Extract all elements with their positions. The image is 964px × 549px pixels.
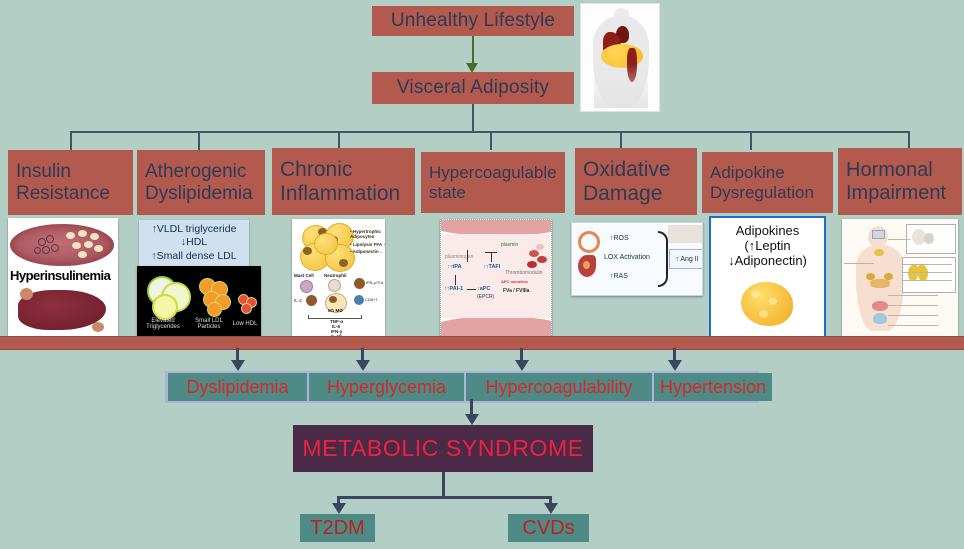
- coag-label-apc-mimetics: APC mimetics: [501, 279, 528, 284]
- oxidative-callout-label: ↑ Ang II: [675, 256, 698, 263]
- connector-syndrome-bar: [337, 496, 552, 499]
- inflammation-label-mast-cell: Mast Cell: [294, 273, 314, 278]
- category-adipokine-dysregulation: Adipokine Dysregulation: [702, 152, 833, 213]
- category-hypercoagulable-state-line2: state: [429, 183, 557, 202]
- thumbnail-insulin-resistance: Hyperinsulinemia: [8, 218, 118, 336]
- lipid-line-vldl: ↑VLDL triglyceride: [152, 223, 237, 236]
- drop-insulin-resistance: [70, 131, 72, 150]
- outcome-hyperglycemia-label: Hyperglycemia: [327, 377, 446, 398]
- arrow-head-hypertension: [668, 360, 682, 371]
- lipid-values-panel: ↑VLDL triglyceride ↓HDL ↑Small dense LDL: [139, 220, 249, 266]
- box-metabolic-syndrome-label: METABOLIC SYNDROME: [302, 435, 583, 462]
- connector-adiposity-trunk: [472, 104, 474, 132]
- thumbnail-obese-body: [580, 3, 660, 112]
- fat-blob-icon: [741, 282, 793, 326]
- oxidative-callout-ang2: ↑ Ang II: [669, 249, 703, 269]
- box-unhealthy-lifestyle-label: Unhealthy Lifestyle: [391, 11, 555, 32]
- category-adipokine-dysregulation-line1: Adipokine: [710, 163, 814, 182]
- category-oxidative-damage-line1: Oxidative: [583, 158, 671, 182]
- coag-label-thrombomodulin: Thrombomodulin: [505, 270, 543, 276]
- oxidative-line-ras: ↑RAS: [610, 273, 628, 280]
- arrow-head-dyslipidemia: [231, 360, 245, 371]
- coag-label-fva: FVa / FVIIIa: [503, 288, 529, 294]
- box-metabolic-syndrome: METABOLIC SYNDROME: [293, 425, 593, 472]
- category-chronic-inflammation: Chronic Inflammation: [272, 148, 415, 215]
- box-t2dm: T2DM: [300, 514, 375, 542]
- inflammation-label-ifn: IFN-γ/Th1: [366, 280, 384, 285]
- lipid-line-hdl: ↓HDL: [181, 236, 207, 249]
- lipid-label-hdl: Low HDL: [231, 321, 259, 327]
- category-atherogenic-dyslipidemia-line1: Atherogenic: [145, 161, 253, 182]
- brace-icon: [658, 231, 668, 287]
- outcome-dyslipidemia: Dyslipidemia: [168, 373, 307, 401]
- outcome-hypercoagulability-label: Hypercoagulability: [485, 377, 632, 398]
- connector-lifestyle-to-adiposity: [472, 36, 474, 66]
- inflammation-label-neutrophil: Neutrophil: [324, 273, 347, 278]
- diagram-canvas: Unhealthy Lifestyle Visceral Adiposity I…: [0, 0, 964, 549]
- category-chronic-inflammation-line1: Chronic: [280, 158, 400, 182]
- category-insulin-resistance-line1: Insulin: [16, 161, 110, 182]
- inflammation-label-il2: IL-2: [294, 298, 302, 303]
- connector-distribution-bar: [70, 131, 908, 133]
- adipokine-title: Adipokines: [736, 223, 800, 238]
- category-hypercoagulable-state: Hypercoagulable state: [421, 152, 565, 213]
- divider-band: [0, 336, 964, 350]
- arrow-head-hyperglycemia: [356, 360, 370, 371]
- oxidative-line-lox: LOX Activation: [604, 254, 650, 261]
- category-adipokine-dysregulation-line2: Dysregulation: [710, 183, 814, 202]
- thumbnail-oxidative-damage: ↑ROS LOX Activation ↑RAS ↑ Ang II: [571, 222, 703, 296]
- connector-syndrome-trunk: [442, 472, 445, 498]
- coag-label-tafi: ↑↑TAFI: [483, 264, 500, 270]
- box-t2dm-label: T2DM: [310, 517, 364, 540]
- category-insulin-resistance: Insulin Resistance: [8, 150, 133, 215]
- adipokine-adiponectin: ↓Adiponectin): [728, 253, 807, 268]
- outcome-hypertension: Hypertension: [654, 373, 772, 401]
- outcome-hyperglycemia: Hyperglycemia: [309, 373, 464, 401]
- category-hormonal-impairment: Hormonal Impairment: [838, 148, 962, 215]
- thumbnail-adipokine: Adipokines (↑Leptin ↓Adiponectin): [709, 216, 826, 340]
- drop-atherogenic-dyslipidemia: [198, 131, 200, 150]
- coag-label-apc: ↓aPC: [477, 286, 490, 292]
- adipokine-leptin: (↑Leptin: [744, 238, 790, 253]
- inflammation-note-adiponectin: • Adiponectin ↓: [350, 249, 382, 254]
- thumbnail-lipid-particles: Elevated Triglycerides Small LDL Particl…: [137, 266, 261, 336]
- lipid-label-ldl: Small LDL Particles: [191, 318, 227, 331]
- category-atherogenic-dyslipidemia: Atherogenic Dyslipidemia: [137, 150, 265, 215]
- coag-label-epcr: (EPCR): [477, 294, 494, 300]
- thumbnail-hormonal-impairment: [842, 219, 958, 336]
- oxidative-line-ros: ↑ROS: [610, 235, 629, 242]
- coag-label-pai1: ↑↑PAI-1: [444, 286, 463, 292]
- category-hormonal-impairment-line2: Impairment: [846, 182, 946, 204]
- thumbnail-dyslipidemia: ↑VLDL triglyceride ↓HDL ↑Small dense LDL: [139, 220, 249, 266]
- inflammation-note-hypertrophic: • Hypertrophic Adipocytes: [350, 229, 384, 239]
- hyperinsulinemia-caption: Hyperinsulinemia: [10, 268, 110, 283]
- arrow-head-t2dm: [332, 503, 346, 514]
- coag-label-plasmin: plasmin: [501, 242, 518, 248]
- category-oxidative-damage-line2: Damage: [583, 182, 671, 206]
- thumbnail-hypercoagulable: plasminogen plasmin ↑↑tPA ↑↑TAFI Thrombo…: [440, 219, 552, 338]
- category-hypercoagulable-state-line1: Hypercoagulable: [429, 163, 557, 182]
- category-atherogenic-dyslipidemia-line2: Dyslipidemia: [145, 183, 253, 204]
- arrow-head-cvds: [544, 503, 558, 514]
- thumbnail-chronic-inflammation: • Hypertrophic Adipocytes • Lipolysis FF…: [292, 219, 385, 336]
- outcomes-strip: Dyslipidemia Hyperglycemia Hypercoagulab…: [165, 371, 759, 403]
- arrow-head-hypercoagulability: [515, 360, 529, 371]
- inflammation-note-lipolysis: • Lipolysis FFA ↑: [350, 242, 385, 247]
- drop-hypercoagulable-state: [490, 131, 492, 150]
- category-insulin-resistance-line2: Resistance: [16, 183, 110, 204]
- artery-icon: [578, 231, 600, 253]
- box-cvds-label: CVDs: [522, 517, 574, 540]
- box-cvds: CVDs: [508, 514, 589, 542]
- arrow-head-syndrome: [465, 414, 479, 425]
- category-chronic-inflammation-line2: Inflammation: [280, 182, 400, 206]
- inflammation-label-cd8t: CD8+T: [365, 297, 378, 302]
- box-visceral-adiposity: Visceral Adiposity: [372, 72, 574, 104]
- outcome-hypercoagulability: Hypercoagulability: [466, 373, 652, 401]
- coag-label-tpa: ↑↑tPA: [447, 264, 462, 270]
- lipid-line-ldl: ↑Small dense LDL: [151, 250, 236, 263]
- box-visceral-adiposity-label: Visceral Adiposity: [397, 78, 549, 99]
- drop-adipokine-dysregulation: [750, 131, 752, 150]
- lipid-label-triglycerides: Elevated Triglycerides: [141, 318, 185, 331]
- outcome-dyslipidemia-label: Dyslipidemia: [186, 377, 288, 398]
- category-oxidative-damage: Oxidative Damage: [575, 148, 697, 215]
- outcome-hypertension-label: Hypertension: [660, 377, 766, 398]
- coag-label-plasminogen: plasminogen: [445, 254, 473, 260]
- inflammation-label-m1: M1 MØ: [328, 308, 343, 313]
- box-unhealthy-lifestyle: Unhealthy Lifestyle: [372, 6, 574, 36]
- category-hormonal-impairment-line1: Hormonal: [846, 159, 946, 181]
